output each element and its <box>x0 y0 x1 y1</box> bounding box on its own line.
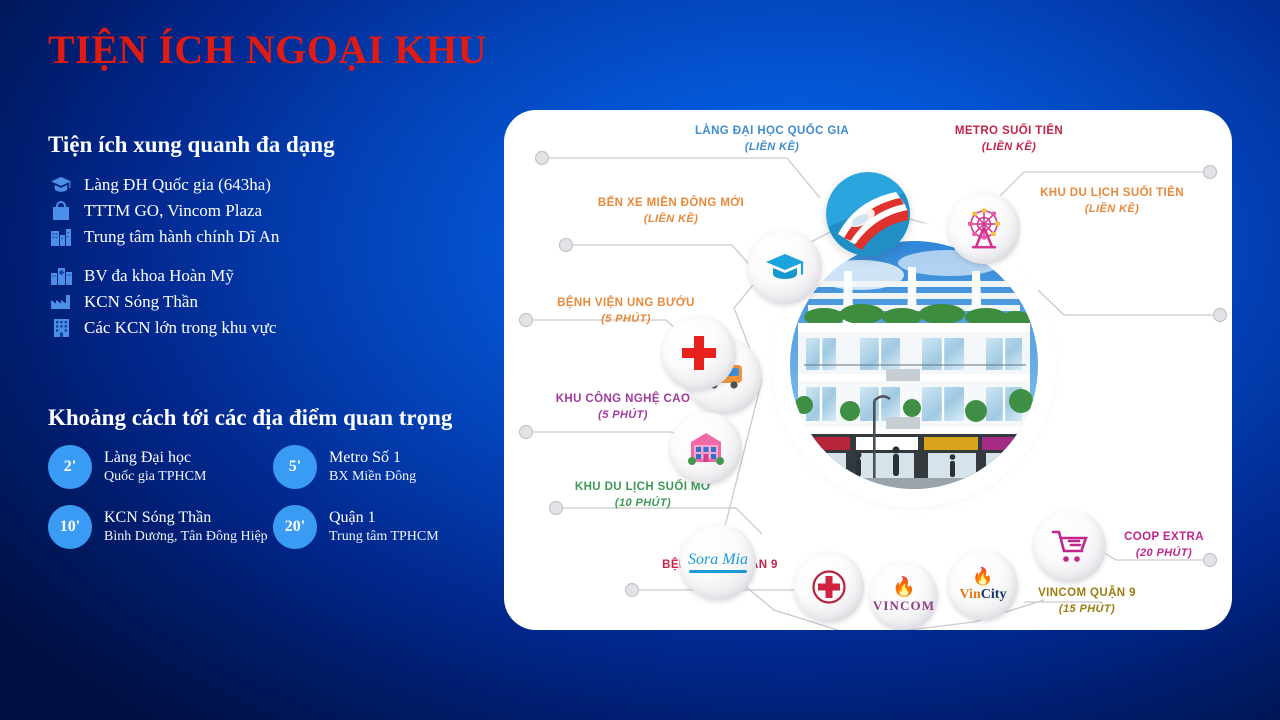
list-item: Trung tâm hành chính Dĩ An <box>48 224 478 249</box>
factory-icon <box>48 291 74 313</box>
amenities-list: Làng ĐH Quốc gia (643ha) TTTM GO, Vincom… <box>48 172 478 340</box>
time-badge: 20' <box>273 505 317 549</box>
list-item: TTTM GO, Vincom Plaza <box>48 198 478 223</box>
node-coop-extra[interactable] <box>1034 510 1106 582</box>
node-clinic[interactable] <box>794 552 864 622</box>
distance-item: 20' Quận 1 Trung tâm TPHCM <box>273 505 488 549</box>
time-badge: 2' <box>48 445 92 489</box>
node-vincity[interactable]: 🔥 VinCity <box>948 550 1018 620</box>
flame-icon: 🔥 <box>873 578 935 597</box>
distances-heading: Khoảng cách tới các địa điểm quan trọng <box>48 405 488 431</box>
red-cross-icon <box>680 334 718 372</box>
amenity-label: Các KCN lớn trong khu vực <box>84 318 276 338</box>
list-item: Làng ĐH Quốc gia (643ha) <box>48 172 478 197</box>
label-khu-du-lich-suoi-tien: KHU DU LỊCH SUỐI TIÊN (LIỀN KỀ) <box>982 186 1232 216</box>
distance-secondary: Quốc gia TPHCM <box>104 468 206 486</box>
office-building-icon <box>48 317 74 339</box>
distance-primary: KCN Sóng Thần <box>104 508 268 528</box>
shophouse-illustration <box>790 241 1038 489</box>
distance-primary: Metro Số 1 <box>329 448 416 468</box>
page-title: TIỆN ÍCH NGOẠI KHU <box>48 26 487 73</box>
amenities-section: Tiện ích xung quanh đa dạng Làng ĐH Quốc… <box>48 132 478 341</box>
distance-item: 5' Metro Số 1 BX Miền Đông <box>273 445 488 489</box>
node-techpark[interactable] <box>670 412 742 484</box>
node-metro[interactable] <box>826 172 910 256</box>
amenity-label: Làng ĐH Quốc gia (643ha) <box>84 175 271 195</box>
distance-secondary: Trung tâm TPHCM <box>329 528 439 546</box>
list-item: Các KCN lớn trong khu vực <box>48 315 478 340</box>
node-hospital[interactable] <box>662 316 736 390</box>
sora-mia-logo: Sora Mia <box>688 552 748 573</box>
amenity-label: TTTM GO, Vincom Plaza <box>84 201 262 221</box>
slide-background: TIỆN ÍCH NGOẠI KHU Tiện ích xung quanh đ… <box>0 0 1280 720</box>
circle-cross-icon <box>811 569 847 605</box>
distance-secondary: BX Miền Đông <box>329 468 416 486</box>
node-sora-mia[interactable]: Sora Mia <box>680 524 756 600</box>
amenity-label: KCN Sóng Thần <box>84 292 198 312</box>
distance-primary: Quận 1 <box>329 508 439 528</box>
graduation-cap-icon <box>764 251 806 283</box>
node-education[interactable] <box>748 230 822 304</box>
label-ben-xe-mien-dong: BẾN XE MIỀN ĐÔNG MỚI (LIỀN KỀ) <box>526 196 816 226</box>
graduation-cap-icon <box>48 174 74 196</box>
time-badge: 5' <box>273 445 317 489</box>
distance-item: 2' Làng Đại học Quốc gia TPHCM <box>48 445 273 489</box>
distances-grid: 2' Làng Đại học Quốc gia TPHCM 5' Metro … <box>48 445 488 549</box>
shopping-bag-icon <box>48 200 74 222</box>
distances-section: Khoảng cách tới các địa điểm quan trọng … <box>48 405 488 549</box>
amenities-heading: Tiện ích xung quanh đa dạng <box>48 132 478 158</box>
vincom-logo: 🔥 VINCOM <box>873 578 935 614</box>
distance-item: 10' KCN Sóng Thần Bình Dương, Tân Đông H… <box>48 505 273 549</box>
amenity-label: BV đa khoa Hoàn Mỹ <box>84 266 234 286</box>
list-item: KCN Sóng Thần <box>48 289 478 314</box>
hospital-building-icon <box>48 265 74 287</box>
flame-icon: 🔥 <box>960 568 1007 585</box>
distance-primary: Làng Đại học <box>104 448 206 468</box>
ferris-wheel-icon <box>963 207 1005 249</box>
label-khu-du-lich-suoi-mo: KHU DU LỊCH SUỐI MƠ (10 PHÚT) <box>518 480 768 510</box>
time-badge: 10' <box>48 505 92 549</box>
distance-secondary: Bình Dương, Tân Đông Hiệp <box>104 528 268 546</box>
vincity-logo: 🔥 VinCity <box>960 568 1007 602</box>
pink-building-icon <box>687 430 725 466</box>
amenity-map-panel: LÀNG ĐẠI HỌC QUỐC GIA (LIỀN KỀ) METRO SU… <box>504 110 1232 630</box>
list-item: BV đa khoa Hoàn Mỹ <box>48 263 478 288</box>
node-ferris-wheel[interactable] <box>948 192 1020 264</box>
shopping-cart-icon <box>1050 528 1090 564</box>
label-metro-suoi-tien: METRO SUỐI TIÊN (LIỀN KỀ) <box>874 124 1144 154</box>
node-vincom[interactable]: 🔥 VINCOM <box>870 562 938 630</box>
city-buildings-icon <box>48 226 74 248</box>
amenity-label: Trung tâm hành chính Dĩ An <box>84 227 279 247</box>
train-icon <box>826 172 910 256</box>
